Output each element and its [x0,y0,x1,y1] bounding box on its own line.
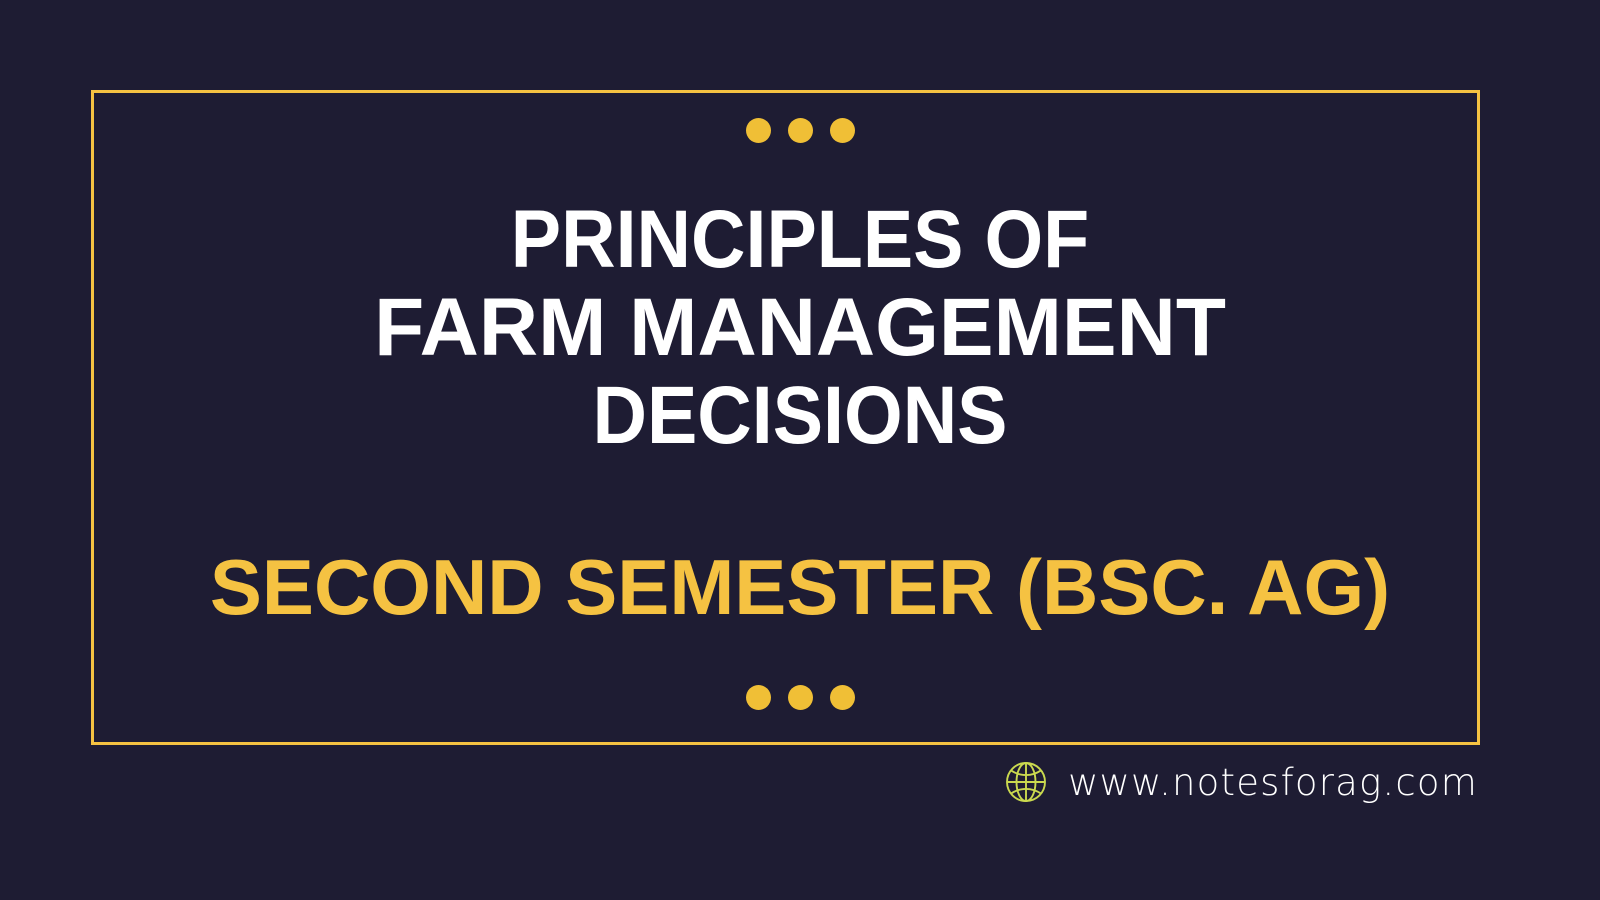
dot-icon [830,118,855,143]
globe-icon [1002,758,1050,806]
page-subtitle: SECOND SEMESTER (BSC. AG) [100,544,1500,630]
dot-icon [788,118,813,143]
dot-icon [746,685,771,710]
top-dot-decoration [0,118,1600,143]
bottom-dot-decoration [0,685,1600,710]
website-url[interactable]: www.notesforag.com [1068,761,1478,804]
dot-icon [746,118,771,143]
dot-icon [830,685,855,710]
site-footer: www.notesforag.com [1002,758,1478,806]
page-title: PRINCIPLES OF FARM MANAGEMENT DECISIONS [100,196,1500,460]
title-line-3: DECISIONS [156,372,1444,460]
dot-icon [788,685,813,710]
poster-canvas: PRINCIPLES OF FARM MANAGEMENT DECISIONS … [0,0,1600,900]
title-line-1: PRINCIPLES OF [156,196,1444,284]
title-line-2: FARM MANAGEMENT [100,284,1500,372]
